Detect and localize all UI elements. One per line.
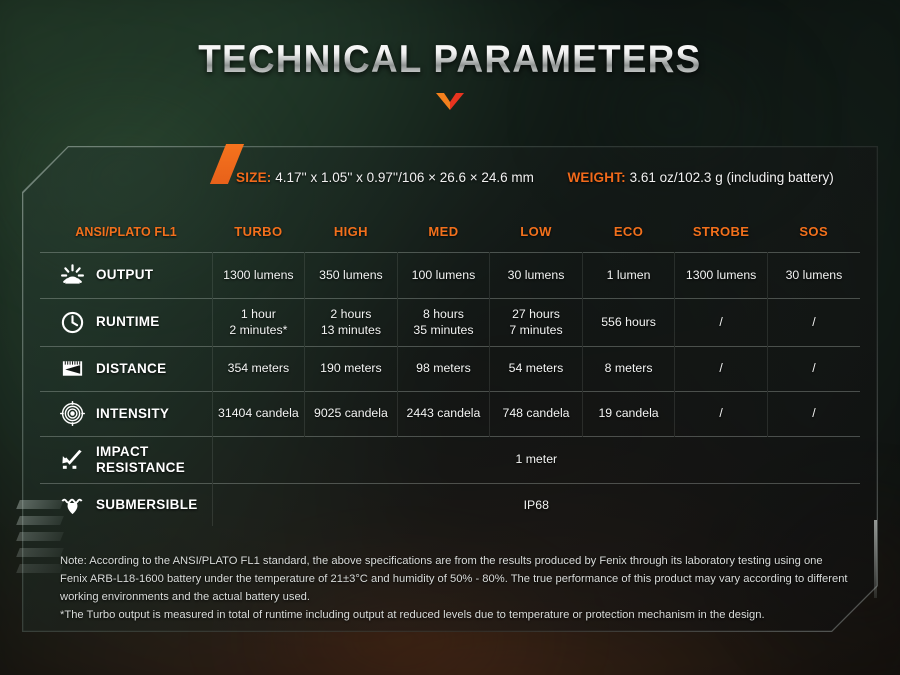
row-label-text: RUNTIME xyxy=(96,314,160,330)
cell-output-sos: 30 lumens xyxy=(767,252,860,298)
cell-intensity-eco: 19 candela xyxy=(582,391,675,436)
cell-line2: 7 minutes xyxy=(490,322,582,338)
table-row-submersible: SUBMERSIBLE IP68 xyxy=(40,483,860,526)
column-header-med: MED xyxy=(397,212,490,252)
footnote-line-1: Note: According to the ANSI/PLATO FL1 st… xyxy=(60,552,850,606)
impact-arrow-icon xyxy=(60,447,85,472)
specifications-table: ANSI/PLATO FL1 TURBO HIGH MED LOW ECO ST… xyxy=(40,212,860,526)
cell-distance-low: 54 meters xyxy=(490,346,583,391)
row-label-submersible: SUBMERSIBLE xyxy=(40,483,212,526)
water-drop-icon xyxy=(60,492,85,517)
row-label-text: IMPACT RESISTANCE xyxy=(96,444,185,475)
cell-intensity-high: 9025 candela xyxy=(305,391,398,436)
table-row-runtime: RUNTIME 1 hour 2 minutes* 2 hours 13 min… xyxy=(40,298,860,346)
cell-distance-high: 190 meters xyxy=(305,346,398,391)
row-label-output: OUTPUT xyxy=(40,252,212,298)
cell-distance-med: 98 meters xyxy=(397,346,490,391)
cell-output-low: 30 lumens xyxy=(490,252,583,298)
weight-value: 3.61 oz/102.3 g (including battery) xyxy=(630,170,834,185)
column-header-eco: ECO xyxy=(582,212,675,252)
cell-runtime-turbo: 1 hour 2 minutes* xyxy=(212,298,305,346)
cell-line1: 27 hours xyxy=(490,306,582,322)
cell-line1: 8 hours xyxy=(398,306,490,322)
cell-submersible-value: IP68 xyxy=(212,483,860,526)
row-label-impact-resistance: IMPACT RESISTANCE xyxy=(40,436,212,483)
cell-line2: 2 minutes* xyxy=(213,322,305,338)
cell-intensity-turbo: 31404 candela xyxy=(212,391,305,436)
column-header-turbo: TURBO xyxy=(212,212,305,252)
cell-distance-eco: 8 meters xyxy=(582,346,675,391)
column-header-low: LOW xyxy=(490,212,583,252)
cell-runtime-strobe: / xyxy=(675,298,768,346)
size-weight-line: SIZE: 4.17'' x 1.05'' x 0.97''/106 × 26.… xyxy=(236,170,834,185)
row-label-distance: DISTANCE xyxy=(40,346,212,391)
cell-distance-strobe: / xyxy=(675,346,768,391)
table-row-intensity: INTENSITY 31404 candela 9025 candela 244… xyxy=(40,391,860,436)
row-label-line1: IMPACT xyxy=(96,444,149,459)
column-header-sos: SOS xyxy=(767,212,860,252)
row-label-text: OUTPUT xyxy=(96,267,153,283)
footnote: Note: According to the ANSI/PLATO FL1 st… xyxy=(60,552,850,625)
target-crosshair-icon xyxy=(60,401,85,426)
cell-line1: 2 hours xyxy=(305,306,397,322)
table-row-distance: DISTANCE 354 meters 190 meters 98 meters… xyxy=(40,346,860,391)
cell-impact-resistance-value: 1 meter xyxy=(212,436,860,483)
cell-distance-turbo: 354 meters xyxy=(212,346,305,391)
cell-distance-sos: / xyxy=(767,346,860,391)
row-label-intensity: INTENSITY xyxy=(40,391,212,436)
cell-runtime-high: 2 hours 13 minutes xyxy=(305,298,398,346)
cell-output-turbo: 1300 lumens xyxy=(212,252,305,298)
cell-intensity-sos: / xyxy=(767,391,860,436)
cell-output-eco: 1 lumen xyxy=(582,252,675,298)
cell-line1: 1 hour xyxy=(213,306,305,322)
column-header-high: HIGH xyxy=(305,212,398,252)
page-title: TECHNICAL PARAMETERS xyxy=(198,38,701,82)
cell-runtime-med: 8 hours 35 minutes xyxy=(397,298,490,346)
cell-output-strobe: 1300 lumens xyxy=(675,252,768,298)
row-label-line2: RESISTANCE xyxy=(96,460,185,475)
row-label-text: DISTANCE xyxy=(96,361,166,377)
row-label-runtime: RUNTIME xyxy=(40,298,212,346)
column-header-strobe: STROBE xyxy=(675,212,768,252)
size-value: 4.17'' x 1.05'' x 0.97''/106 × 26.6 × 24… xyxy=(275,170,534,185)
cell-output-med: 100 lumens xyxy=(397,252,490,298)
cell-line2: 35 minutes xyxy=(398,322,490,338)
table-row-impact-resistance: IMPACT RESISTANCE 1 meter xyxy=(40,436,860,483)
weight-label: WEIGHT: xyxy=(567,170,625,185)
cell-runtime-eco: 556 hours xyxy=(582,298,675,346)
cell-runtime-sos: / xyxy=(767,298,860,346)
clock-icon xyxy=(60,310,85,335)
table-row-output: OUTPUT 1300 lumens 350 lumens 100 lumens… xyxy=(40,252,860,298)
chevron-down-icon xyxy=(436,93,464,110)
row-label-text: INTENSITY xyxy=(96,406,169,422)
table-header-row: ANSI/PLATO FL1 TURBO HIGH MED LOW ECO ST… xyxy=(40,212,860,252)
beam-distance-icon xyxy=(60,356,85,381)
row-label-text: SUBMERSIBLE xyxy=(96,497,198,513)
cell-output-high: 350 lumens xyxy=(305,252,398,298)
page-header: TECHNICAL PARAMETERS xyxy=(0,38,900,110)
cell-intensity-strobe: / xyxy=(675,391,768,436)
cell-intensity-low: 748 candela xyxy=(490,391,583,436)
size-label: SIZE: xyxy=(236,170,272,185)
cell-line2: 13 minutes xyxy=(305,322,397,338)
column-header-standard: ANSI/PLATO FL1 xyxy=(40,212,212,252)
panel-right-accent xyxy=(874,520,877,598)
light-burst-icon xyxy=(60,263,85,288)
footnote-line-2: *The Turbo output is measured in total o… xyxy=(60,606,850,624)
cell-intensity-med: 2443 candela xyxy=(397,391,490,436)
cell-runtime-low: 27 hours 7 minutes xyxy=(490,298,583,346)
